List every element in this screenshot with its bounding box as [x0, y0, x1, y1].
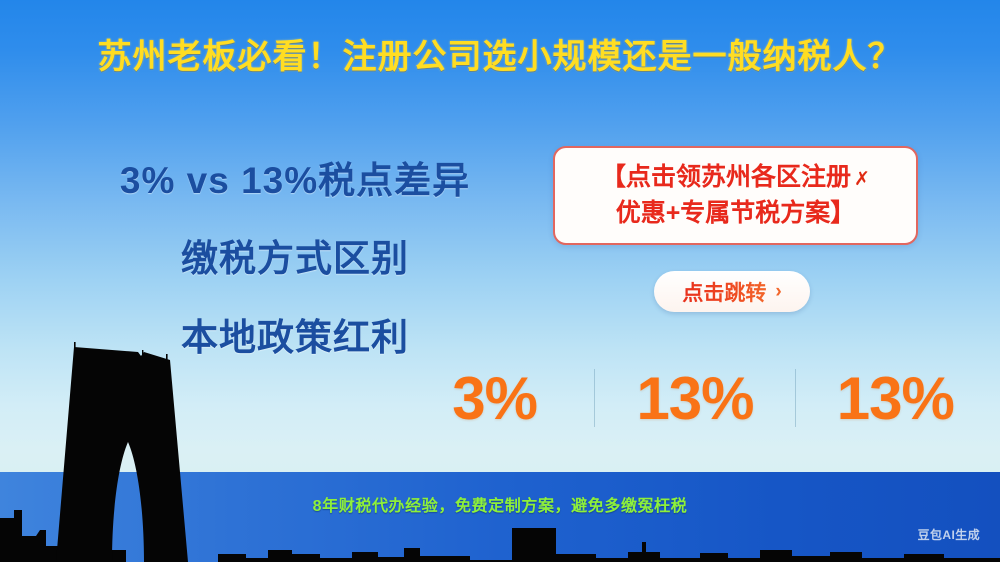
- footer-strap: 8年财税代办经验，免费定制方案，避免多缴冤枉税: [0, 492, 1000, 516]
- page-title: 苏州老板必看！注册公司选小规模还是一般纳税人？: [0, 29, 1000, 78]
- tax-rate-value: 13%: [595, 364, 794, 433]
- tax-rate-row: 3% 13% 13%: [395, 362, 995, 434]
- footer-strap-text: 8年财税代办经验，免费定制方案，避免多缴冤枉税: [313, 498, 688, 515]
- list-item: 本地政策红利: [75, 307, 515, 361]
- poster-canvas: 苏州老板必看！注册公司选小规模还是一般纳税人？ 3% vs 13%税点差异 缴税…: [0, 0, 1000, 562]
- cross-mark-icon: ✗: [854, 169, 870, 190]
- tax-rate-value: 3%: [395, 364, 594, 433]
- list-item: 缴税方式区别: [75, 228, 515, 282]
- offer-card-line-2: 优惠+专属节税方案】: [616, 196, 856, 232]
- offer-card-line-1-text: 【点击领苏州各区注册: [601, 163, 851, 191]
- selling-point-list: 3% vs 13%税点差异 缴税方式区别 本地政策红利: [75, 150, 515, 361]
- tax-rate-value: 13%: [796, 364, 995, 433]
- jump-button[interactable]: 点击跳转 ›: [654, 271, 810, 312]
- offer-card-line-1: 【点击领苏州各区注册✗: [601, 160, 870, 196]
- list-item: 3% vs 13%税点差异: [75, 150, 515, 204]
- offer-card[interactable]: 【点击领苏州各区注册✗ 优惠+专属节税方案】: [553, 146, 918, 245]
- chevron-right-icon: ›: [775, 281, 781, 303]
- watermark: 豆包AI生成: [918, 526, 980, 543]
- jump-button-label: 点击跳转: [682, 277, 766, 307]
- page-title-text: 苏州老板必看！注册公司选小规模还是一般纳税人？: [98, 38, 903, 76]
- gate-of-the-orient-silhouette: [38, 330, 218, 562]
